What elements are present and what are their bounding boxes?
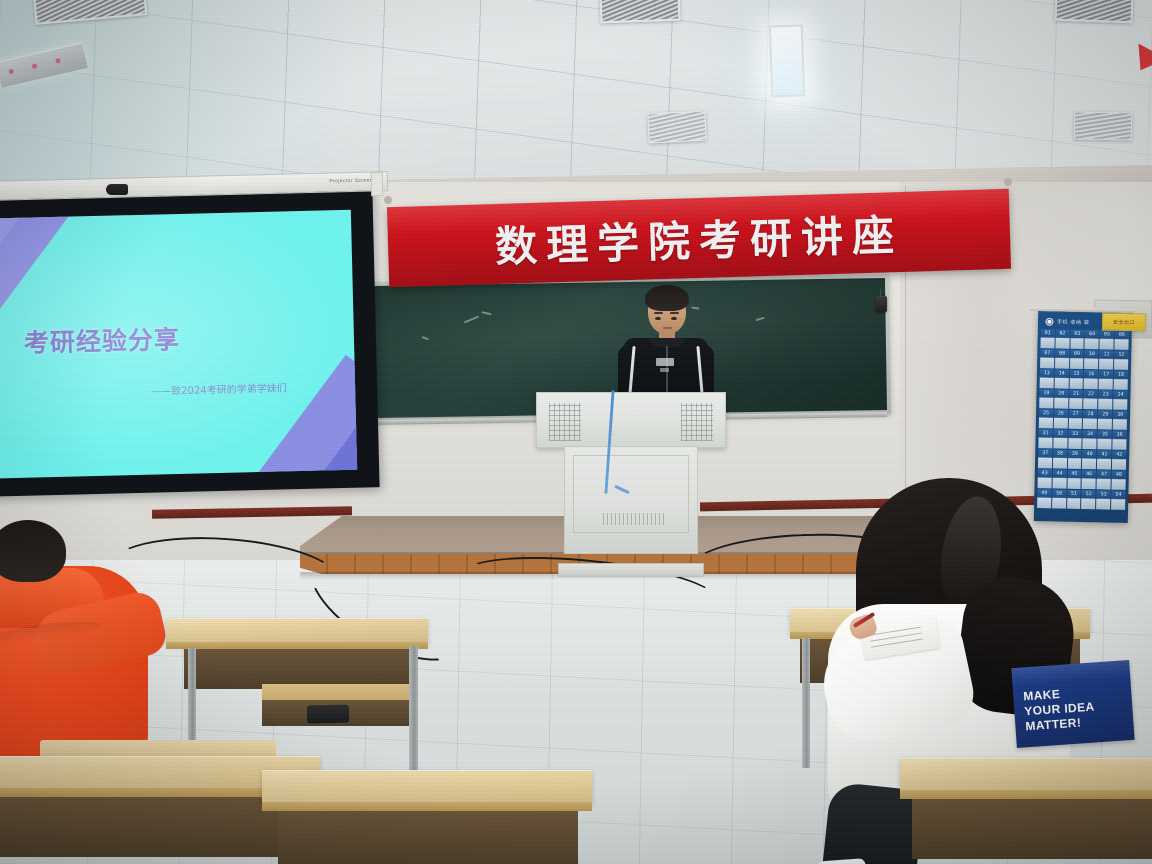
jacket-logo — [656, 358, 674, 366]
phone-pocket-slot: 20 — [1054, 389, 1068, 408]
phone-pocket-slot: 13 — [1040, 369, 1054, 388]
desk-leg — [409, 646, 418, 770]
phone-pocket-slot: 17 — [1099, 370, 1113, 389]
desk-edge — [166, 642, 428, 649]
podium-base — [558, 563, 704, 577]
phone-pocket-slot: 16 — [1084, 370, 1098, 389]
desk-surface — [262, 770, 592, 804]
phone-pocket-slot: 21 — [1069, 390, 1083, 409]
phone-pocket-slot: 30 — [1113, 411, 1127, 430]
mobile-phone — [307, 705, 349, 724]
phone-pocket-slot: 42 — [1112, 451, 1126, 470]
projector-screen: 考研经验分享 ——致2024考研的学弟学妹们 自呼 究生 — [0, 187, 380, 497]
phone-pocket-slot: 19 — [1039, 389, 1053, 408]
speaker-hair — [645, 285, 689, 311]
desk-underside — [0, 797, 300, 857]
speaker-mouth — [663, 327, 672, 329]
banner-tie-left — [384, 196, 392, 204]
ceiling-light-fixture — [769, 24, 805, 97]
speaker-shoe — [106, 184, 128, 195]
pocket-chart-header-text: 手机 收纳 袋 — [1057, 318, 1090, 326]
tote-bag: MAKE YOUR IDEA MATTER! — [1011, 660, 1134, 748]
phone-pocket-slot: 29 — [1098, 410, 1112, 429]
desk — [900, 758, 1152, 864]
phone-pocket-slot: 35 — [1098, 430, 1112, 449]
phone-pocket-slot: 39 — [1068, 450, 1082, 469]
phone-pocket-slot: 40 — [1082, 450, 1096, 469]
podium — [536, 392, 726, 567]
phone-pocket-slot: 27 — [1068, 410, 1082, 429]
phone-pocket-slot: 26 — [1054, 409, 1068, 428]
phone-pocket-slot: 15 — [1069, 370, 1083, 389]
desk-underside — [278, 811, 578, 864]
jacket-logo-sub — [660, 368, 669, 372]
phone-pocket-slot: 05 — [1100, 330, 1114, 349]
podium-speaker-grille-icon — [549, 403, 581, 441]
phone-pocket-slot: 09 — [1070, 350, 1084, 369]
phone-pocket-slot: 37 — [1038, 449, 1052, 468]
phone-pocket-slot: 07 — [1040, 349, 1054, 368]
presentation-slide: 考研经验分享 ——致2024考研的学弟学妹们 自呼 究生 — [0, 210, 357, 479]
air-vent-icon — [600, 0, 681, 23]
phone-pocket-slot: 12 — [1114, 351, 1128, 370]
air-vent-icon — [1074, 111, 1132, 140]
screen-bracket — [371, 172, 384, 196]
banner-tie-right — [1004, 178, 1012, 186]
classroom-photo: Projector Screen 考研经验分享 ——致2024考研的学弟学妹们 … — [0, 0, 1152, 864]
air-vent-icon — [647, 111, 706, 144]
speaker-eyebrow — [670, 312, 679, 314]
desk — [262, 770, 592, 864]
phone-pocket-slot: 36 — [1112, 431, 1126, 450]
podium-body — [564, 446, 698, 554]
exit-sign: 安全出口 — [1102, 313, 1146, 332]
screen-brand-label: Projector Screen — [329, 177, 373, 184]
tote-bag-text: MAKE YOUR IDEA MATTER! — [1023, 685, 1096, 735]
phone-pocket-slot: 04 — [1085, 330, 1099, 349]
phone-pocket-slot: 06 — [1115, 331, 1129, 350]
desk-surface — [900, 758, 1152, 792]
slide-projection-glow — [0, 210, 357, 479]
phone-pocket-slot: 25 — [1039, 409, 1053, 428]
air-vent-icon — [1055, 0, 1134, 23]
phone-pocket-slot: 14 — [1054, 369, 1068, 388]
student-shoe — [813, 858, 866, 864]
phone-pocket-slot: 10 — [1084, 350, 1098, 369]
phone-pocket-slot: 18 — [1114, 371, 1128, 390]
phone-pocket-slot: 32 — [1053, 429, 1067, 448]
speaker-eye — [655, 317, 661, 320]
desk-edge — [262, 802, 592, 811]
phone-pocket-slot: 38 — [1053, 449, 1067, 468]
desk-underside — [184, 649, 416, 689]
phone-pocket-slot: 24 — [1113, 391, 1127, 410]
podium-top — [536, 392, 726, 448]
phone-pocket-slot: 31 — [1038, 429, 1052, 448]
phone-pocket-slot: 23 — [1098, 390, 1112, 409]
wall-speaker-icon — [876, 296, 887, 312]
school-logo-icon — [1045, 317, 1054, 326]
phone-pocket-slot: 01 — [1040, 329, 1054, 348]
podium-vent-slots — [603, 513, 665, 525]
phone-pocket-slot: 41 — [1097, 450, 1111, 469]
ceiling-shading-left — [0, 0, 480, 200]
desk-surface — [166, 618, 428, 644]
speaker-person — [618, 288, 714, 406]
phone-pocket-slot: 33 — [1068, 430, 1082, 449]
phone-pocket-slot: 11 — [1099, 350, 1113, 369]
phone-pocket-slot: 02 — [1055, 329, 1069, 348]
phone-pocket-slot: 03 — [1070, 330, 1084, 349]
phone-pocket-slot: 34 — [1083, 430, 1097, 449]
student-head — [0, 520, 66, 582]
phone-pocket-slot: 22 — [1084, 390, 1098, 409]
speaker-eye — [671, 317, 677, 320]
speaker-eyebrow — [654, 312, 663, 314]
desk-underside — [912, 799, 1152, 859]
desk-edge — [900, 790, 1152, 799]
phone-pocket-slot: 28 — [1083, 410, 1097, 429]
phone-pocket-slot: 08 — [1055, 349, 1069, 368]
podium-speaker-grille-icon — [681, 403, 713, 441]
